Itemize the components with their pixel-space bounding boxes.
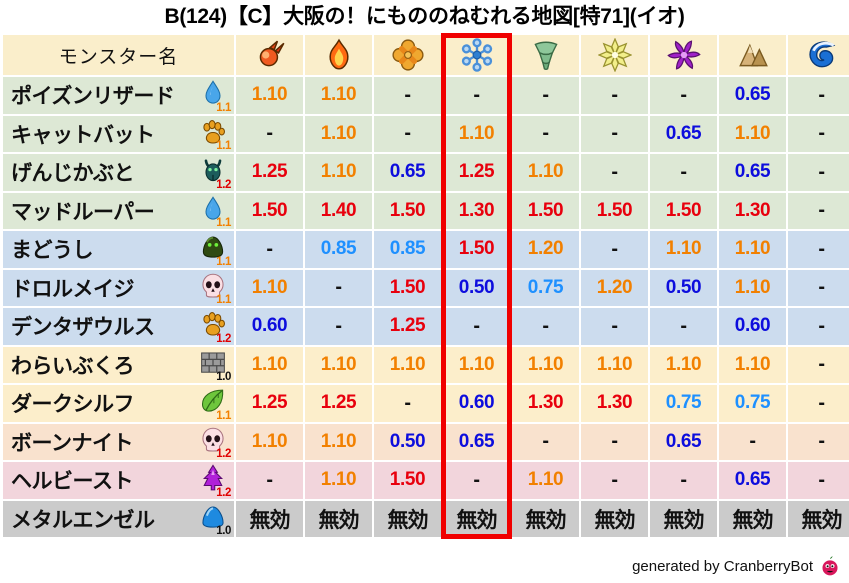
header-col-3[interactable] [443, 35, 510, 75]
cell-value: - [542, 84, 548, 107]
cell-r5-c7[interactable]: 1.10 [719, 270, 786, 307]
cell-r7-c6[interactable]: 1.10 [650, 347, 717, 384]
monster-name-label: ヘルビースト [11, 465, 133, 495]
family-multiplier: 1.1 [216, 103, 231, 114]
cell-value: 1.40 [321, 200, 356, 222]
cell-r5-c5[interactable]: 1.20 [581, 270, 648, 307]
cell-r9-c6[interactable]: 0.65 [650, 424, 717, 461]
cell-value: 0.65 [735, 469, 770, 491]
cell-value: 0.75 [528, 277, 563, 299]
monster-name-label: まどうし [11, 234, 93, 264]
cell-r8-c8[interactable]: - [788, 385, 849, 422]
cell-r2-c4[interactable]: 1.10 [512, 154, 579, 191]
cell-r5-c3[interactable]: 0.50 [443, 270, 510, 307]
cell-value: - [335, 276, 341, 299]
cell-value: 1.30 [528, 392, 563, 414]
cell-value: 0.65 [459, 431, 494, 453]
cell-value: - [749, 430, 755, 453]
cell-value: 1.10 [735, 238, 770, 260]
cell-r7-c0[interactable]: 1.10 [236, 347, 303, 384]
cell-value: 1.10 [528, 161, 563, 183]
cell-value: 1.30 [459, 200, 494, 222]
cell-value: 1.50 [390, 469, 425, 491]
cell-r3-c3[interactable]: 1.30 [443, 193, 510, 230]
cell-value: 1.10 [321, 84, 356, 106]
cell-value: - [266, 238, 272, 261]
cell-r0-c1[interactable]: 1.10 [305, 77, 372, 114]
cell-value: - [542, 315, 548, 338]
cell-r11-c0[interactable]: 無効 [236, 501, 303, 538]
cell-r9-c3[interactable]: 0.65 [443, 424, 510, 461]
cell-r3-c5[interactable]: 1.50 [581, 193, 648, 230]
meteor-fire-icon [253, 38, 287, 72]
cell-r7-c2[interactable]: 1.10 [374, 347, 441, 384]
cell-r8-c7[interactable]: 0.75 [719, 385, 786, 422]
cell-value: 0.85 [321, 238, 356, 260]
cell-r8-c2[interactable]: - [374, 385, 441, 422]
cell-r7-c7[interactable]: 1.10 [719, 347, 786, 384]
cell-r3-c6[interactable]: 1.50 [650, 193, 717, 230]
monster-name-label: ダークシルフ [11, 388, 134, 418]
footer-credit: generated by CranberryBot [632, 555, 841, 577]
cell-value: - [611, 161, 617, 184]
cell-r9-c8[interactable]: - [788, 424, 849, 461]
family-multiplier: 1.2 [216, 334, 231, 345]
cell-r1-c2[interactable]: - [374, 116, 441, 153]
cell-value: - [611, 122, 617, 145]
monster-name-label: マッドルーパー [11, 196, 154, 226]
monster-name-cell-4[interactable]: まどうし1.1 [3, 231, 234, 268]
cell-value: 1.10 [735, 277, 770, 299]
cell-value: 0.85 [390, 238, 425, 260]
cell-r1-c8[interactable]: - [788, 116, 849, 153]
purple-pinwheel-icon [667, 38, 701, 72]
cell-value: 1.10 [735, 123, 770, 145]
cell-value: 1.10 [321, 354, 356, 376]
cell-r8-c6[interactable]: 0.75 [650, 385, 717, 422]
cell-r2-c8[interactable]: - [788, 154, 849, 191]
cell-r11-c5[interactable]: 無効 [581, 501, 648, 538]
cell-r5-c0[interactable]: 1.10 [236, 270, 303, 307]
cell-r7-c5[interactable]: 1.10 [581, 347, 648, 384]
cell-value: - [611, 238, 617, 261]
resistance-grid: モンスター名ポイズンリザード1.11.101.10-----0.65-キャットバ… [0, 34, 849, 538]
cell-value: 1.50 [666, 200, 701, 222]
cell-value: 1.10 [321, 431, 356, 453]
cell-value: 1.25 [459, 161, 494, 183]
cell-r9-c7[interactable]: - [719, 424, 786, 461]
cell-r7-c1[interactable]: 1.10 [305, 347, 372, 384]
cell-r5-c8[interactable]: - [788, 270, 849, 307]
family-multiplier: 1.1 [216, 295, 231, 306]
cell-r1-c4[interactable]: - [512, 116, 579, 153]
cell-value: 1.50 [390, 200, 425, 222]
cell-r4-c6[interactable]: 1.10 [650, 231, 717, 268]
cell-value: - [818, 276, 824, 299]
cell-r7-c3[interactable]: 1.10 [443, 347, 510, 384]
cranberry-bot-icon [819, 555, 841, 577]
cell-value: 無効 [733, 504, 773, 534]
cell-value: 1.25 [252, 392, 287, 414]
header-monster-name: モンスター名 [3, 35, 234, 75]
monster-name-label: デンタザウルス [11, 311, 155, 341]
table-row: ポイズンリザード1.11.101.10-----0.65- [2, 76, 847, 115]
monster-name-cell-7[interactable]: わらいぶくろ1.0 [3, 347, 234, 384]
table-header-row: モンスター名 [2, 34, 847, 76]
cell-value: 無効 [250, 504, 290, 534]
cell-r6-c2[interactable]: 1.25 [374, 308, 441, 345]
cell-r9-c0[interactable]: 1.10 [236, 424, 303, 461]
cell-value: - [611, 84, 617, 107]
cell-value: 0.65 [735, 84, 770, 106]
cell-value: - [818, 353, 824, 376]
cell-r4-c8[interactable]: - [788, 231, 849, 268]
cell-r10-c4[interactable]: 1.10 [512, 462, 579, 499]
cell-value: - [818, 392, 824, 415]
cell-r3-c4[interactable]: 1.50 [512, 193, 579, 230]
cell-r6-c8[interactable]: - [788, 308, 849, 345]
cell-value: 0.65 [390, 161, 425, 183]
monster-name-cell-2[interactable]: げんじかぶと1.2 [3, 154, 234, 191]
cell-value: - [611, 315, 617, 338]
cell-value: - [680, 315, 686, 338]
cell-r2-c3[interactable]: 1.25 [443, 154, 510, 191]
cell-r4-c3[interactable]: 1.50 [443, 231, 510, 268]
family-multiplier: 1.1 [216, 141, 231, 152]
table-row: ドロルメイジ1.11.10-1.500.500.751.200.501.10- [2, 269, 847, 308]
monster-name-cell-9[interactable]: ボーンナイト1.2 [3, 424, 234, 461]
cell-value: 1.30 [597, 392, 632, 414]
cell-value: - [818, 122, 824, 145]
cell-value: 1.10 [252, 431, 287, 453]
monster-name-cell-8[interactable]: ダークシルフ1.1 [3, 385, 234, 422]
cell-r1-c0[interactable]: - [236, 116, 303, 153]
cell-r11-c1[interactable]: 無効 [305, 501, 372, 538]
cell-r11-c2[interactable]: 無効 [374, 501, 441, 538]
cell-r3-c1[interactable]: 1.40 [305, 193, 372, 230]
cell-value: - [473, 315, 479, 338]
header-col-0[interactable] [236, 35, 303, 75]
cell-r8-c3[interactable]: 0.60 [443, 385, 510, 422]
cell-r5-c1[interactable]: - [305, 270, 372, 307]
cell-r7-c8[interactable]: - [788, 347, 849, 384]
cell-r11-c4[interactable]: 無効 [512, 501, 579, 538]
cell-r0-c6[interactable]: - [650, 77, 717, 114]
cell-r10-c0[interactable]: - [236, 462, 303, 499]
cell-r3-c2[interactable]: 1.50 [374, 193, 441, 230]
cell-r2-c0[interactable]: 1.25 [236, 154, 303, 191]
table-row: キャットバット1.1-1.10-1.10--0.651.10- [2, 115, 847, 154]
cell-value: 1.10 [321, 469, 356, 491]
cell-r1-c1[interactable]: 1.10 [305, 116, 372, 153]
cell-r2-c7[interactable]: 0.65 [719, 154, 786, 191]
header-col-2[interactable] [374, 35, 441, 75]
cell-value: - [404, 122, 410, 145]
cell-value: - [611, 469, 617, 492]
cell-r10-c7[interactable]: 0.65 [719, 462, 786, 499]
cell-r4-c2[interactable]: 0.85 [374, 231, 441, 268]
cell-value: 0.65 [666, 123, 701, 145]
cell-r2-c6[interactable]: - [650, 154, 717, 191]
cell-value: 0.65 [735, 161, 770, 183]
cell-value: 無効 [595, 504, 635, 534]
table-row: メタルエンゼル1.0無効無効無効無効無効無効無効無効無効 [2, 500, 847, 539]
family-multiplier: 1.2 [216, 180, 231, 191]
cell-value: 0.50 [390, 431, 425, 453]
cell-value: 1.10 [459, 354, 494, 376]
cell-value: 無効 [388, 504, 428, 534]
cell-value: 無効 [526, 504, 566, 534]
monster-name-label: わらいぶくろ [11, 350, 134, 380]
table-row: わらいぶくろ1.01.101.101.101.101.101.101.101.1… [2, 346, 847, 385]
cell-value: 0.60 [735, 315, 770, 337]
cell-r0-c2[interactable]: - [374, 77, 441, 114]
wave-icon [805, 38, 839, 72]
cell-value: 1.10 [321, 161, 356, 183]
cell-r10-c1[interactable]: 1.10 [305, 462, 372, 499]
cell-value: 1.25 [390, 315, 425, 337]
table-row: マッドルーパー1.11.501.401.501.301.501.501.501.… [2, 192, 847, 231]
cell-r1-c5[interactable]: - [581, 116, 648, 153]
cell-r10-c2[interactable]: 1.50 [374, 462, 441, 499]
cell-r5-c4[interactable]: 0.75 [512, 270, 579, 307]
cell-r3-c8[interactable]: - [788, 193, 849, 230]
cell-r6-c4[interactable]: - [512, 308, 579, 345]
cell-r8-c0[interactable]: 1.25 [236, 385, 303, 422]
cell-value: 0.65 [666, 431, 701, 453]
cell-r4-c7[interactable]: 1.10 [719, 231, 786, 268]
cell-r4-c4[interactable]: 1.20 [512, 231, 579, 268]
cell-value: 1.10 [528, 354, 563, 376]
cell-r10-c3[interactable]: - [443, 462, 510, 499]
table-row: ヘルビースト1.2-1.101.50-1.10--0.65- [2, 461, 847, 500]
cell-r11-c6[interactable]: 無効 [650, 501, 717, 538]
cell-r0-c4[interactable]: - [512, 77, 579, 114]
cell-r0-c8[interactable]: - [788, 77, 849, 114]
monster-name-label: ボーンナイト [11, 427, 133, 457]
family-multiplier: 1.2 [216, 449, 231, 460]
cell-r6-c3[interactable]: - [443, 308, 510, 345]
cell-value: - [266, 122, 272, 145]
cell-r8-c4[interactable]: 1.30 [512, 385, 579, 422]
cell-value: 1.10 [321, 123, 356, 145]
cell-value: 1.20 [528, 238, 563, 260]
header-col-5[interactable] [581, 35, 648, 75]
monster-name-cell-5[interactable]: ドロルメイジ1.1 [3, 270, 234, 307]
cell-value: - [680, 161, 686, 184]
cell-value: 0.60 [459, 392, 494, 414]
cell-value: - [404, 84, 410, 107]
monster-name-label: ポイズンリザード [11, 80, 174, 110]
monster-name-cell-1[interactable]: キャットバット1.1 [3, 116, 234, 153]
family-multiplier: 1.0 [216, 372, 231, 383]
table-row: デンタザウルス1.20.60-1.25----0.60- [2, 307, 847, 346]
mountain-icon [736, 38, 770, 72]
cell-r0-c7[interactable]: 0.65 [719, 77, 786, 114]
cell-r4-c5[interactable]: - [581, 231, 648, 268]
cell-r3-c7[interactable]: 1.30 [719, 193, 786, 230]
cell-value: - [818, 469, 824, 492]
monster-name-cell-10[interactable]: ヘルビースト1.2 [3, 462, 234, 499]
cell-value: 1.10 [597, 354, 632, 376]
header-col-7[interactable] [719, 35, 786, 75]
cell-value: - [473, 84, 479, 107]
snowflake-icon [460, 38, 494, 72]
cell-value: - [818, 430, 824, 453]
cell-r5-c6[interactable]: 0.50 [650, 270, 717, 307]
monster-name-label: キャットバット [11, 119, 155, 149]
cell-value: - [542, 430, 548, 453]
cell-value: 無効 [802, 504, 842, 534]
cell-r0-c5[interactable]: - [581, 77, 648, 114]
cell-value: - [818, 238, 824, 261]
cell-r6-c0[interactable]: 0.60 [236, 308, 303, 345]
cell-value: 1.10 [459, 123, 494, 145]
cell-r1-c3[interactable]: 1.10 [443, 116, 510, 153]
cell-r2-c5[interactable]: - [581, 154, 648, 191]
family-multiplier: 1.0 [216, 526, 231, 537]
cell-value: 1.20 [597, 277, 632, 299]
cell-r0-c0[interactable]: 1.10 [236, 77, 303, 114]
footer-text: generated by CranberryBot [632, 558, 813, 575]
explosion-icon [391, 38, 425, 72]
cell-r10-c6[interactable]: - [650, 462, 717, 499]
cell-value: 1.50 [528, 200, 563, 222]
cell-value: 1.50 [252, 200, 287, 222]
cell-value: - [473, 469, 479, 492]
monster-name-label: げんじかぶと [11, 157, 134, 187]
cell-r7-c4[interactable]: 1.10 [512, 347, 579, 384]
monster-name-label: ドロルメイジ [11, 273, 134, 303]
cell-r6-c5[interactable]: - [581, 308, 648, 345]
cell-value: 1.10 [252, 354, 287, 376]
cell-r6-c7[interactable]: 0.60 [719, 308, 786, 345]
cell-value: - [818, 161, 824, 184]
cell-value: - [680, 84, 686, 107]
cell-r1-c6[interactable]: 0.65 [650, 116, 717, 153]
cell-r4-c1[interactable]: 0.85 [305, 231, 372, 268]
table-row: げんじかぶと1.21.251.100.651.251.10--0.65- [2, 153, 847, 192]
cell-r11-c3[interactable]: 無効 [443, 501, 510, 538]
cell-r3-c0[interactable]: 1.50 [236, 193, 303, 230]
family-multiplier: 1.1 [216, 218, 231, 229]
cell-r1-c7[interactable]: 1.10 [719, 116, 786, 153]
cell-r9-c1[interactable]: 1.10 [305, 424, 372, 461]
cell-value: 0.50 [459, 277, 494, 299]
header-col-4[interactable] [512, 35, 579, 75]
cell-r8-c1[interactable]: 1.25 [305, 385, 372, 422]
header-col-8[interactable] [788, 35, 849, 75]
cell-value: 1.10 [666, 354, 701, 376]
cell-r9-c2[interactable]: 0.50 [374, 424, 441, 461]
cell-value: 1.50 [459, 238, 494, 260]
cell-value: 無効 [664, 504, 704, 534]
cell-value: - [542, 122, 548, 145]
table-row: ダークシルフ1.11.251.25-0.601.301.300.750.75- [2, 384, 847, 423]
cell-value: - [680, 469, 686, 492]
cell-value: 1.10 [666, 238, 701, 260]
cell-r4-c0[interactable]: - [236, 231, 303, 268]
tornado-icon [529, 38, 563, 72]
cell-r2-c1[interactable]: 1.10 [305, 154, 372, 191]
cell-value: - [266, 469, 272, 492]
cell-value: - [335, 315, 341, 338]
resistance-table-page: B(124)【C】大阪の！にもののねむれる地図[特71](イオ) モンスター名ポ… [0, 0, 849, 583]
cell-value: 無効 [457, 504, 497, 534]
page-title: B(124)【C】大阪の！にもののねむれる地図[特71](イオ) [0, 0, 849, 34]
cell-r8-c5[interactable]: 1.30 [581, 385, 648, 422]
cell-value: 1.10 [252, 277, 287, 299]
cell-value: 1.10 [390, 354, 425, 376]
cell-value: 0.50 [666, 277, 701, 299]
cell-value: 無効 [319, 504, 359, 534]
cell-r5-c2[interactable]: 1.50 [374, 270, 441, 307]
header-col-1[interactable] [305, 35, 372, 75]
cell-value: - [404, 392, 410, 415]
cell-r10-c5[interactable]: - [581, 462, 648, 499]
cell-value: 1.10 [252, 84, 287, 106]
sparkle-star-icon [598, 38, 632, 72]
cell-r6-c6[interactable]: - [650, 308, 717, 345]
family-multiplier: 1.1 [216, 411, 231, 422]
cell-r6-c1[interactable]: - [305, 308, 372, 345]
monster-name-cell-6[interactable]: デンタザウルス1.2 [3, 308, 234, 345]
cell-r10-c8[interactable]: - [788, 462, 849, 499]
cell-value: - [611, 430, 617, 453]
table-row: まどうし1.1-0.850.851.501.20-1.101.10- [2, 230, 847, 269]
monster-name-cell-3[interactable]: マッドルーパー1.1 [3, 193, 234, 230]
cell-r9-c4[interactable]: - [512, 424, 579, 461]
header-col-6[interactable] [650, 35, 717, 75]
cell-value: 1.50 [390, 277, 425, 299]
flame-fire-icon [322, 38, 356, 72]
cell-value: 1.10 [735, 354, 770, 376]
cell-r11-c7[interactable]: 無効 [719, 501, 786, 538]
cell-value: 1.10 [528, 469, 563, 491]
cell-value: 0.75 [666, 392, 701, 414]
cell-value: 1.50 [597, 200, 632, 222]
cell-r0-c3[interactable]: - [443, 77, 510, 114]
monster-name-cell-11[interactable]: メタルエンゼル1.0 [3, 501, 234, 538]
cell-value: - [818, 315, 824, 338]
cell-value: 1.25 [252, 161, 287, 183]
family-multiplier: 1.1 [216, 257, 231, 268]
family-multiplier: 1.2 [216, 488, 231, 499]
cell-value: - [818, 84, 824, 107]
cell-r11-c8[interactable]: 無効 [788, 501, 849, 538]
cell-r2-c2[interactable]: 0.65 [374, 154, 441, 191]
cell-r9-c5[interactable]: - [581, 424, 648, 461]
cell-value: 0.75 [735, 392, 770, 414]
table-row: ボーンナイト1.21.101.100.500.65--0.65-- [2, 423, 847, 462]
cell-value: 1.25 [321, 392, 356, 414]
cell-value: - [818, 199, 824, 222]
cell-value: 0.60 [252, 315, 287, 337]
monster-name-cell-0[interactable]: ポイズンリザード1.1 [3, 77, 234, 114]
cell-value: 1.30 [735, 200, 770, 222]
monster-name-label: メタルエンゼル [11, 504, 155, 534]
